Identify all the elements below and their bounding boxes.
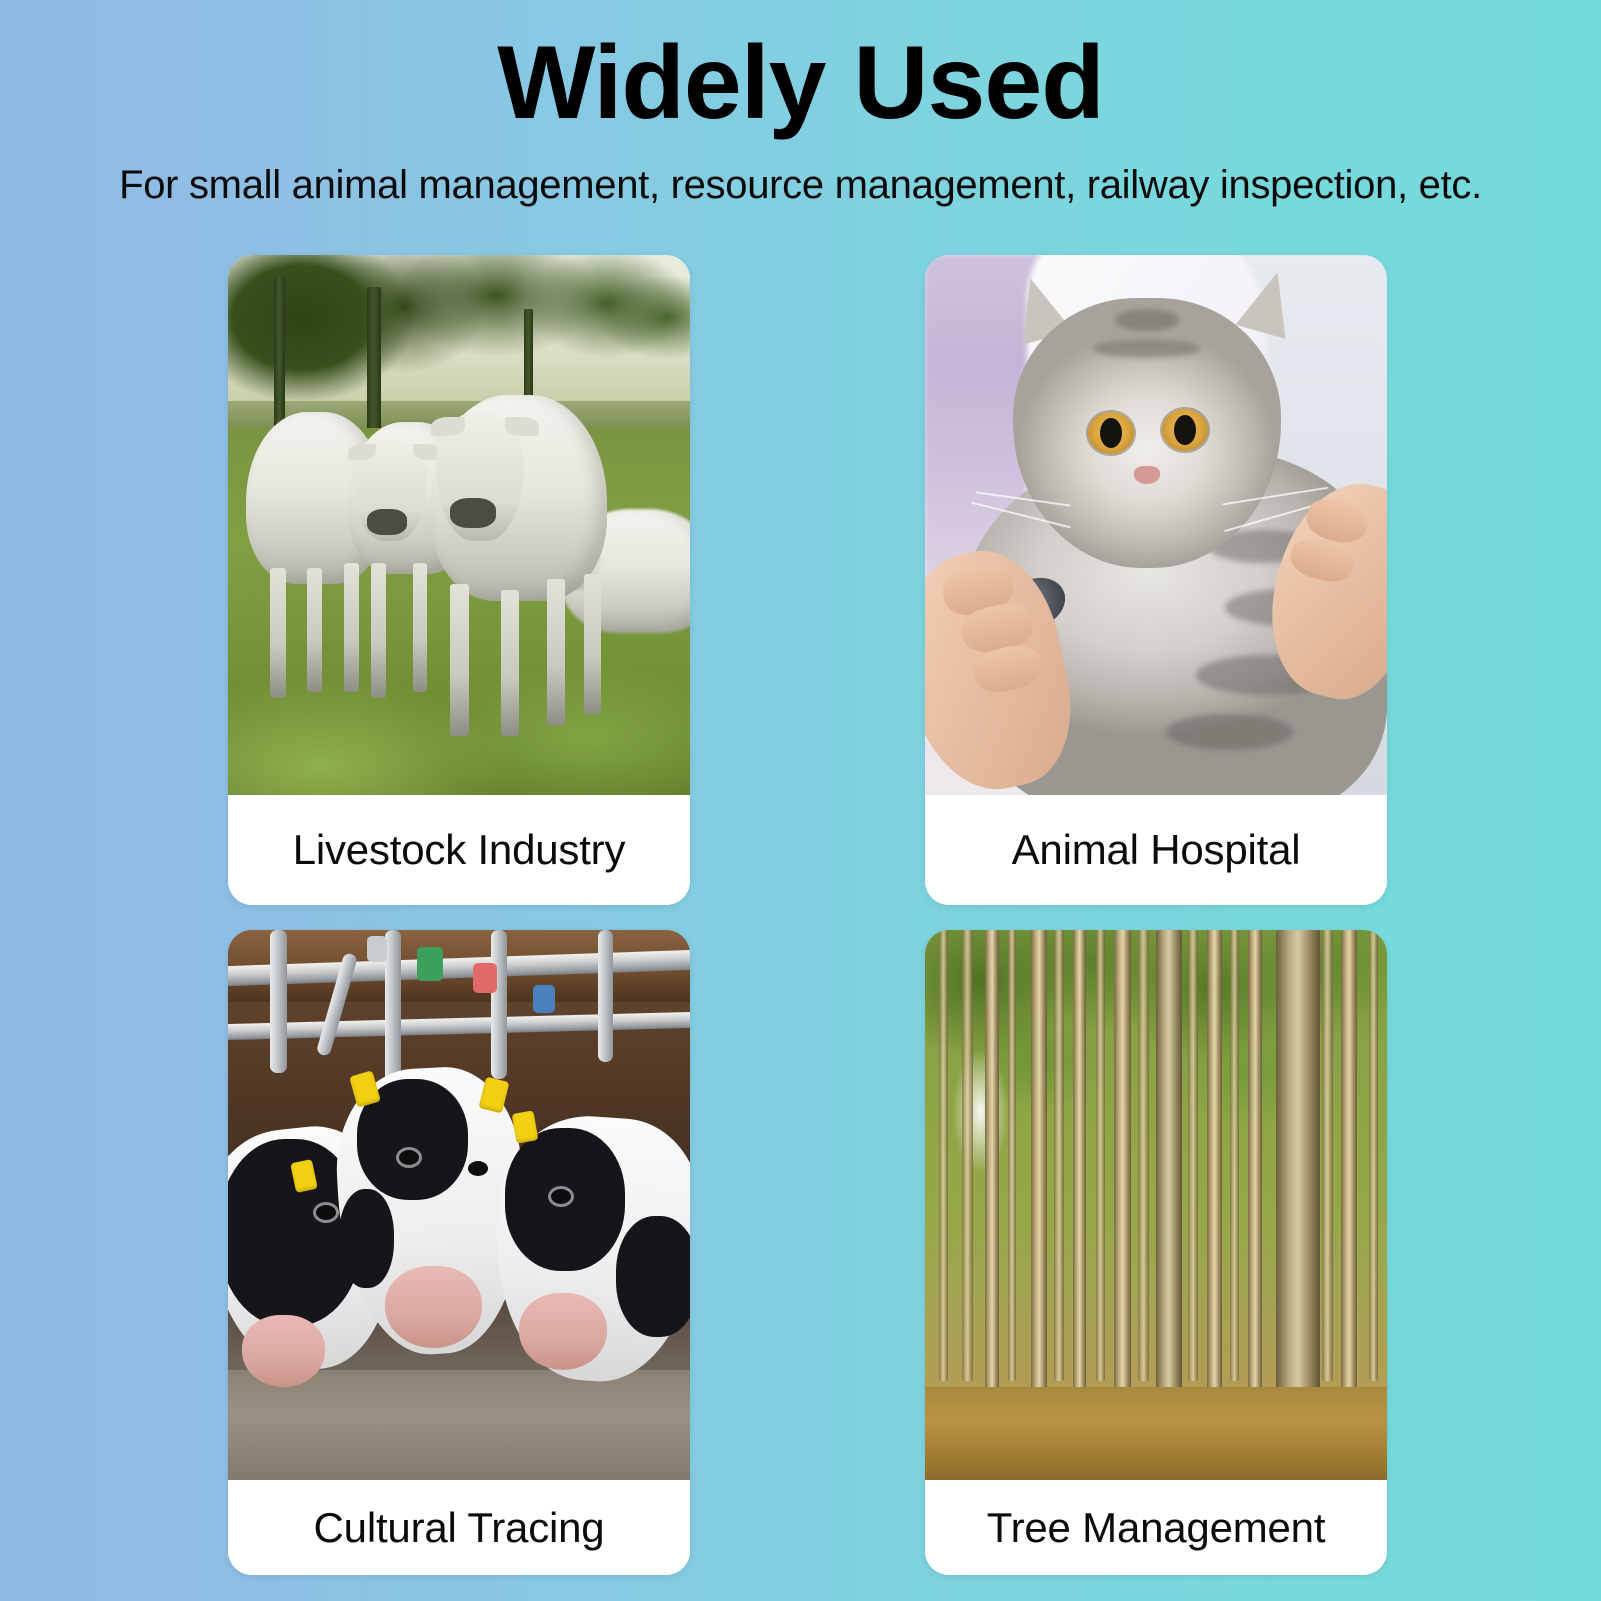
card-caption: Tree Management xyxy=(925,1480,1387,1575)
card-label-tree-management: Tree Management xyxy=(987,1504,1326,1552)
conifer-forest-photo xyxy=(925,930,1387,1480)
use-case-card-animal-hospital[interactable]: Animal Hospital xyxy=(925,255,1387,905)
card-caption: Cultural Tracing xyxy=(228,1480,690,1575)
page-subtitle: For small animal management, resource ma… xyxy=(0,163,1601,208)
card-label-cultural-tracing: Cultural Tracing xyxy=(314,1504,605,1552)
use-case-card-livestock-industry[interactable]: Livestock Industry xyxy=(228,255,690,905)
card-caption: Livestock Industry xyxy=(228,795,690,905)
use-case-card-grid: Livestock Industry xyxy=(228,255,1378,1575)
veterinarian-holding-grey-cat-photo xyxy=(925,255,1387,795)
header: Widely Used For small animal management,… xyxy=(0,0,1601,240)
page-title: Widely Used xyxy=(0,24,1601,144)
card-label-animal-hospital: Animal Hospital xyxy=(1012,826,1301,874)
holstein-cows-with-ear-tags-photo xyxy=(228,930,690,1480)
white-cattle-in-pasture-photo xyxy=(228,255,690,795)
card-label-livestock-industry: Livestock Industry xyxy=(293,826,626,874)
card-caption: Animal Hospital xyxy=(925,795,1387,905)
use-case-card-cultural-tracing[interactable]: Cultural Tracing xyxy=(228,930,690,1575)
use-case-card-tree-management[interactable]: Tree Management xyxy=(925,930,1387,1575)
